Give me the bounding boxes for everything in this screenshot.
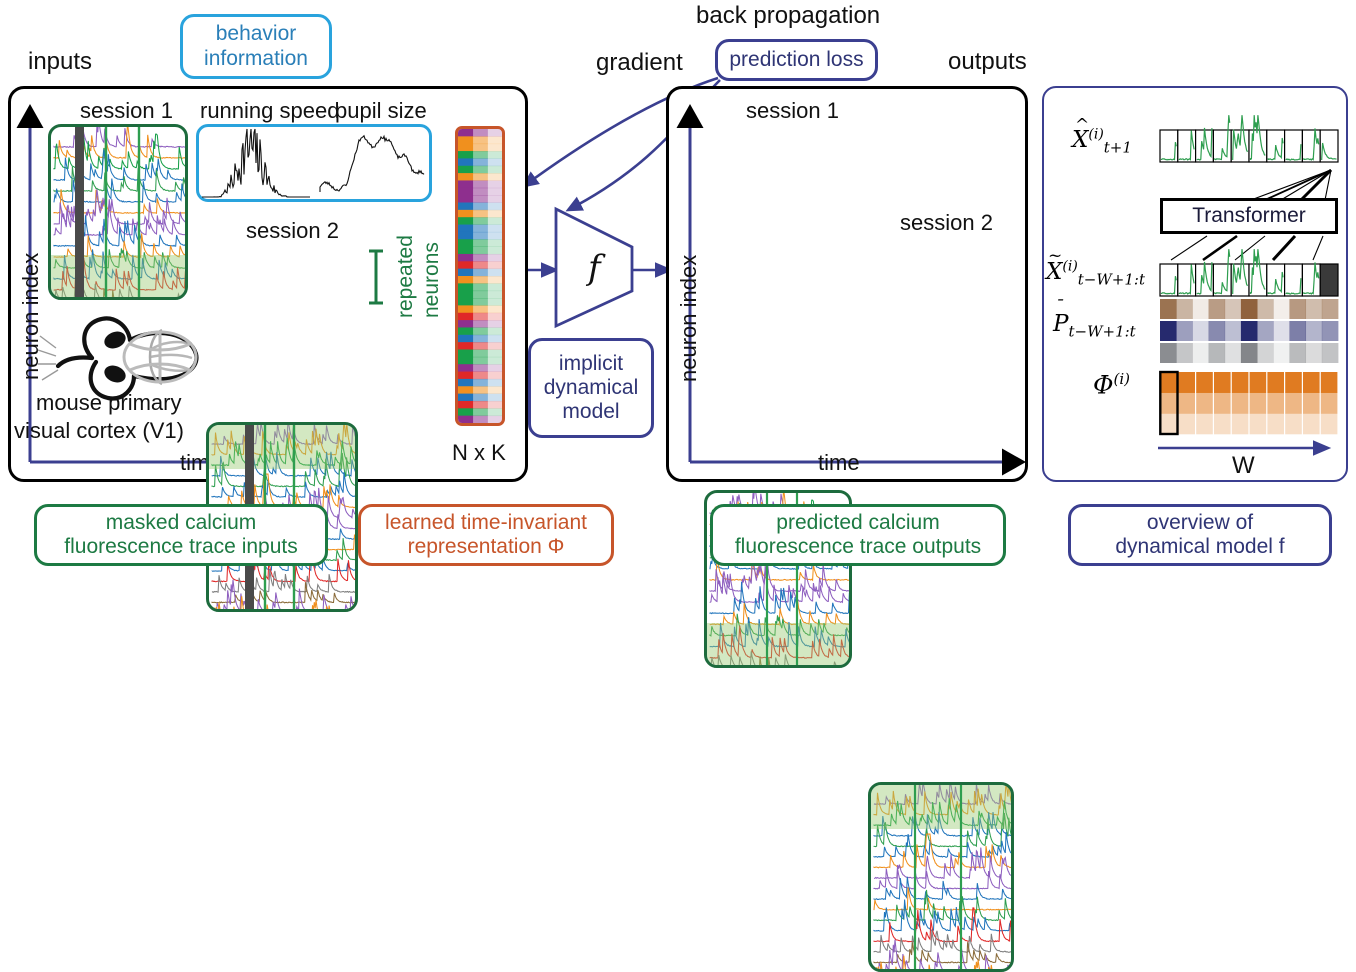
outputs-label: outputs bbox=[948, 48, 1027, 76]
session-2-label-right: session 2 bbox=[900, 210, 993, 236]
behavior-traces bbox=[198, 126, 430, 200]
caption-masked-inputs: masked calcium fluorescence trace inputs bbox=[34, 504, 328, 566]
neuron-index-label-right: neuron index bbox=[676, 255, 702, 382]
f-symbol: f bbox=[588, 248, 601, 288]
mouse-caption-line2: visual cortex (V1) bbox=[14, 418, 184, 444]
back-propagation-label: back propagation bbox=[696, 2, 880, 30]
w-axis-label: W bbox=[1232, 452, 1255, 480]
p-bar-heatmap bbox=[1160, 298, 1338, 370]
neurons-label: neurons bbox=[420, 242, 444, 318]
session-1-label-right: session 1 bbox=[746, 98, 839, 124]
behavior-information-callout: behavior information bbox=[180, 14, 332, 79]
session2-tracebox-output bbox=[868, 782, 1014, 972]
caption-overview-line2: dynamical model f bbox=[1115, 535, 1284, 559]
behavior-line-2: information bbox=[204, 47, 308, 71]
repeated-label: repeated bbox=[394, 235, 418, 318]
session1-tracebox-input bbox=[48, 124, 188, 300]
time-label-right: time bbox=[818, 450, 860, 476]
behavior-traces-box bbox=[196, 124, 432, 202]
x-tilde-label: ~X(i)t−W+1:t bbox=[1046, 258, 1145, 289]
idm-line-3: model bbox=[562, 400, 619, 424]
caption-learned-line1: learned time-invariant bbox=[385, 511, 587, 535]
caption-masked-line2: fluorescence trace inputs bbox=[64, 535, 297, 559]
caption-predicted-line2: fluorescence trace outputs bbox=[735, 535, 981, 559]
inputs-label: inputs bbox=[28, 48, 92, 76]
phi-label: Φ(i) bbox=[1093, 370, 1130, 400]
caption-learned-representation: learned time-invariant representation Φ bbox=[358, 504, 614, 566]
nxk-label: N x K bbox=[452, 440, 506, 466]
attention-lines bbox=[1155, 160, 1345, 272]
phi-block bbox=[1160, 372, 1338, 438]
nxk-matrix bbox=[455, 126, 505, 426]
x-tilde-trace-row bbox=[1160, 262, 1338, 298]
running-speed-label: running speed bbox=[200, 98, 339, 124]
x-hat-label: ^X(i)t+1 bbox=[1072, 126, 1132, 157]
idm-line-2: dynamical bbox=[544, 376, 639, 400]
session-1-label-left: session 1 bbox=[80, 98, 173, 124]
implicit-dynamical-model-callout: implicit dynamical model bbox=[528, 338, 654, 438]
caption-learned-line2: representation Φ bbox=[408, 535, 565, 559]
p-bar-label: ¯Pt−W+1:t bbox=[1053, 310, 1136, 341]
idm-line-1: implicit bbox=[559, 352, 623, 376]
caption-masked-line1: masked calcium bbox=[106, 511, 257, 535]
outputs-axes bbox=[678, 100, 1022, 475]
pupil-size-label: pupil size bbox=[335, 98, 427, 124]
caption-predicted-outputs: predicted calcium fluorescence trace out… bbox=[710, 504, 1006, 566]
caption-overview: overview of dynamical model f bbox=[1068, 504, 1332, 566]
session-2-label-left: session 2 bbox=[246, 218, 339, 244]
repeated-neurons-bracket bbox=[366, 248, 388, 308]
session1-marker-lines bbox=[51, 127, 188, 300]
caption-predicted-line1: predicted calcium bbox=[776, 511, 939, 535]
caption-overview-line1: overview of bbox=[1147, 511, 1253, 535]
mouse-caption-line1: mouse primary bbox=[36, 390, 181, 416]
behavior-line-1: behavior bbox=[216, 22, 297, 46]
session2-out-marker-lines bbox=[871, 785, 1014, 972]
